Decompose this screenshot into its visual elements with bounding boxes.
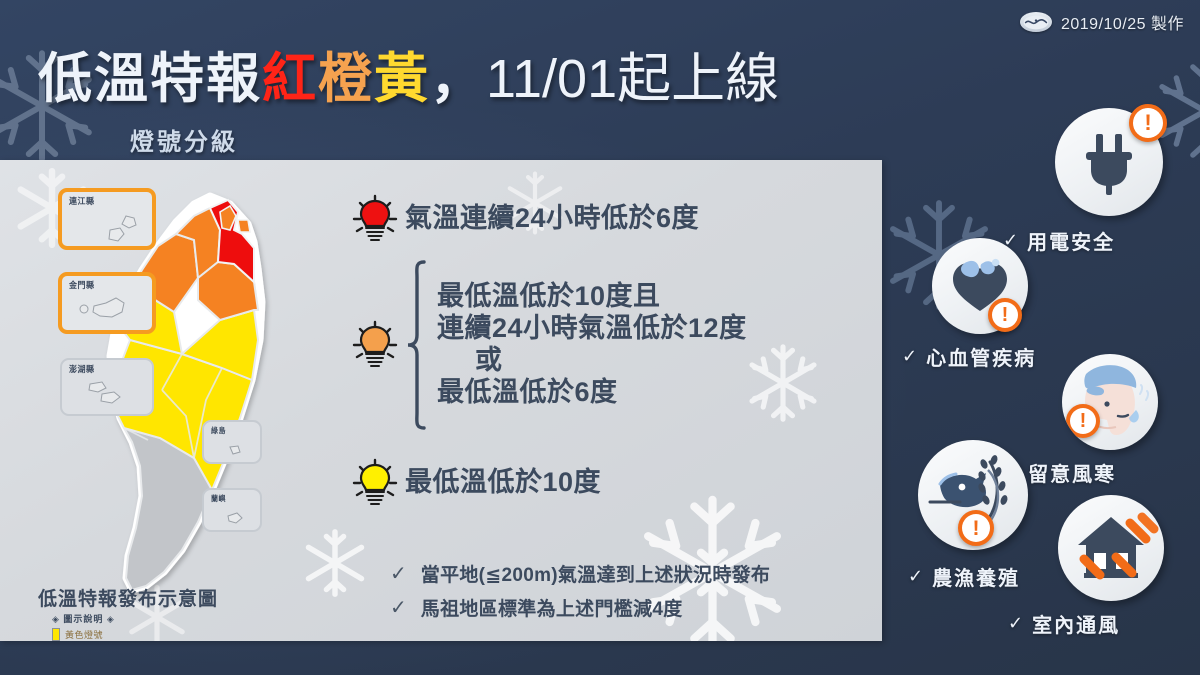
- warning-badge: !: [988, 298, 1022, 332]
- map-caption: 低溫特報發布示意圖: [38, 584, 218, 611]
- date-stamp: 2019/10/25 製作: [1020, 10, 1184, 34]
- tip-indoor-ventilation[interactable]: ✓ 室內通風: [1058, 495, 1164, 601]
- title-orange: 橙: [318, 49, 374, 109]
- title-yellow: 黃: [374, 49, 430, 109]
- tip-power-safety[interactable]: ! ✓ 用電安全: [1055, 108, 1163, 216]
- map-inset-kinmen: 金門縣: [58, 272, 156, 334]
- island-shape: [76, 294, 136, 328]
- map-inset-label: 連江縣: [69, 196, 95, 208]
- map-inset-lienchiang: 連江縣: [58, 188, 156, 250]
- map-legend: ◈ 圖示說明 ◈ 黃色燈號 橙色燈號 紅色燈號: [52, 612, 182, 641]
- cold-face-icon: !: [1062, 354, 1158, 450]
- page-subtitle: 燈號分級: [130, 122, 238, 157]
- light-bulb-icon: [345, 319, 405, 371]
- map-inset-penghu: 澎湖縣: [60, 358, 154, 416]
- note-text: 當平地(≦200m)氣溫達到上述狀況時發布: [421, 560, 770, 587]
- tip-wind-chill[interactable]: ! ✓ 留意風寒: [1062, 354, 1158, 450]
- note-text: 馬祖地區標準為上述門檻減4度: [421, 594, 683, 621]
- orange-line-4: 最低溫低於6度: [437, 377, 618, 407]
- light-bulb-icon: [345, 457, 405, 509]
- notes-list: ✓ 當平地(≦200m)氣溫達到上述狀況時發布 ✓ 馬祖地區標準為上述門檻減4度: [390, 560, 770, 628]
- map-inset-label: 澎湖縣: [69, 364, 95, 376]
- map-inset-green-island: 綠島: [202, 420, 262, 464]
- check-icon: ✓: [902, 346, 917, 367]
- title-comma: ，: [430, 49, 486, 109]
- warning-level-red-text: 氣溫連續24小時低於6度: [405, 203, 699, 235]
- tip-text: 心血管疾病: [926, 342, 1036, 371]
- tip-label-agriculture-fishery: ✓ 農漁養殖: [908, 562, 1020, 591]
- tip-text: 留意風寒: [1028, 458, 1116, 487]
- tip-agriculture-fishery[interactable]: ! ✓ 農漁養殖: [918, 440, 1028, 550]
- cwb-logo-icon: [1020, 12, 1052, 32]
- check-icon: ✓: [390, 598, 407, 618]
- tip-cardiovascular[interactable]: ! ✓ 心血管疾病: [932, 238, 1028, 334]
- warning-level-yellow-text: 最低溫低於10度: [405, 467, 601, 499]
- page-title: 低溫特報紅橙黃，11/01起上線: [38, 52, 779, 106]
- orange-line-1: 最低溫低於10度且: [437, 281, 661, 311]
- heart-icon: !: [932, 238, 1028, 334]
- tip-text: 室內通風: [1032, 609, 1120, 638]
- tip-label-indoor-ventilation: ✓ 室內通風: [1008, 609, 1120, 638]
- power-plug-icon: !: [1055, 108, 1163, 216]
- legend-title: ◈ 圖示說明 ◈: [52, 612, 182, 625]
- warning-badge: !: [1129, 104, 1167, 142]
- island-shape: [98, 212, 144, 246]
- tip-text: 農漁養殖: [932, 562, 1020, 591]
- note-item: ✓ 當平地(≦200m)氣溫達到上述狀況時發布: [390, 560, 770, 587]
- check-icon: ✓: [390, 564, 407, 584]
- house-ventilation-icon: [1058, 495, 1164, 601]
- map-inset-label: 綠島: [211, 426, 226, 437]
- orange-line-3: 或: [437, 345, 503, 375]
- date-text: 2019/10/25 製作: [1061, 10, 1184, 34]
- title-tail: 11/01起上線: [486, 49, 779, 109]
- map-inset-label: 金門縣: [69, 280, 95, 292]
- island-shape: [224, 510, 246, 526]
- orange-line-2: 連續24小時氣溫低於12度: [437, 313, 747, 343]
- check-icon: ✓: [908, 566, 923, 587]
- island-shape: [226, 442, 244, 458]
- map-inset-label: 蘭嶼: [211, 494, 226, 505]
- legend-item-yellow: 黃色燈號: [52, 628, 182, 641]
- warning-badge: !: [958, 510, 994, 546]
- warning-badge: !: [1066, 404, 1100, 438]
- warning-level-orange: 最低溫低於10度且 連續24小時氣溫低於12度 或 最低溫低於6度: [345, 252, 865, 438]
- taiwan-warning-map: 連江縣 金門縣 澎湖縣: [14, 166, 334, 636]
- title-red: 紅: [262, 49, 318, 109]
- infographic-root: 2019/10/25 製作 低溫特報紅橙黃，11/01起上線 燈號分級: [0, 0, 1200, 675]
- brace-icon: [405, 259, 431, 431]
- fish-crop-icon: !: [918, 440, 1028, 550]
- island-shape: [80, 376, 136, 408]
- tip-text: 用電安全: [1027, 226, 1115, 255]
- warning-level-yellow: 最低溫低於10度: [345, 438, 865, 528]
- map-inset-orchid-island: 蘭嶼: [202, 488, 262, 532]
- warning-level-orange-text: 最低溫低於10度且 連續24小時氣溫低於12度 或 最低溫低於6度: [431, 281, 747, 408]
- warning-level-red: 氣溫連續24小時低於6度: [345, 186, 865, 252]
- light-bulb-icon: [345, 193, 405, 245]
- check-icon: ✓: [1008, 613, 1023, 634]
- content-panel: 連江縣 金門縣 澎湖縣: [0, 160, 882, 641]
- title-lead: 低溫特報: [38, 49, 262, 109]
- legend-swatch-yellow: [52, 628, 60, 641]
- tip-label-cardiovascular: ✓ 心血管疾病: [902, 342, 1036, 371]
- note-item: ✓ 馬祖地區標準為上述門檻減4度: [390, 594, 770, 621]
- legend-label: 黃色燈號: [65, 628, 103, 641]
- warning-levels-list: 氣溫連續24小時低於6度: [345, 186, 865, 528]
